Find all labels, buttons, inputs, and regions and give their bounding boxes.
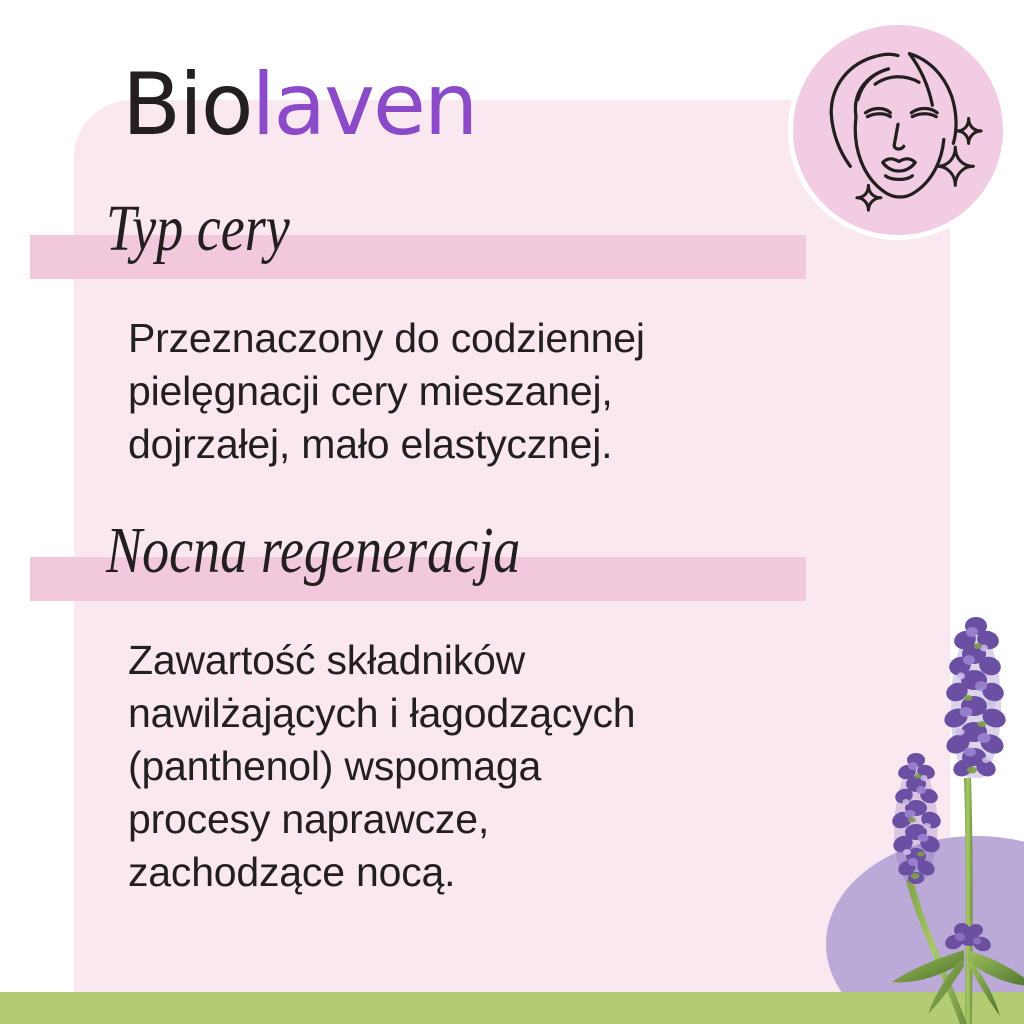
- section-body-2: Zawartość składników nawilżających i łag…: [128, 634, 808, 899]
- section-heading-1: Typ cery: [106, 196, 290, 262]
- face-skincare-icon: [788, 20, 1008, 240]
- section-body-1: Przeznaczony do codziennej pielęgnacji c…: [128, 312, 808, 471]
- brand-logo-bio: Bio: [122, 55, 252, 155]
- brand-logo: Biolaven: [122, 62, 476, 148]
- lavender-sprig-illustration: [836, 610, 1024, 1024]
- section-heading-2: Nocna regeneracja: [106, 518, 520, 584]
- product-info-card: Biolaven: [0, 0, 1024, 1024]
- brand-logo-laven: laven: [252, 55, 477, 155]
